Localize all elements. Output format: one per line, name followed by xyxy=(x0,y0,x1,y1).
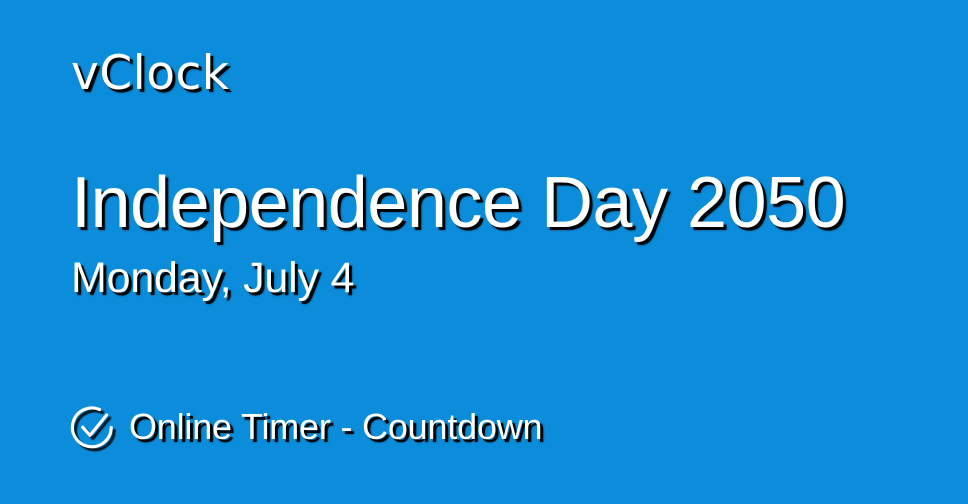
brand-name: vClock xyxy=(71,48,230,100)
page-title: Independence Day 2050 xyxy=(71,162,931,244)
hero-section: Independence Day 2050 Monday, July 4 xyxy=(71,162,931,304)
page-root: vClock Independence Day 2050 Monday, Jul… xyxy=(0,0,968,504)
event-date: Monday, July 4 xyxy=(71,252,931,304)
online-timer-link[interactable]: Online Timer - Countdown xyxy=(69,404,542,450)
online-timer-label: Online Timer - Countdown xyxy=(129,404,542,450)
brand-logo[interactable]: vClock xyxy=(71,48,230,100)
circle-check-timer-icon xyxy=(69,404,115,450)
